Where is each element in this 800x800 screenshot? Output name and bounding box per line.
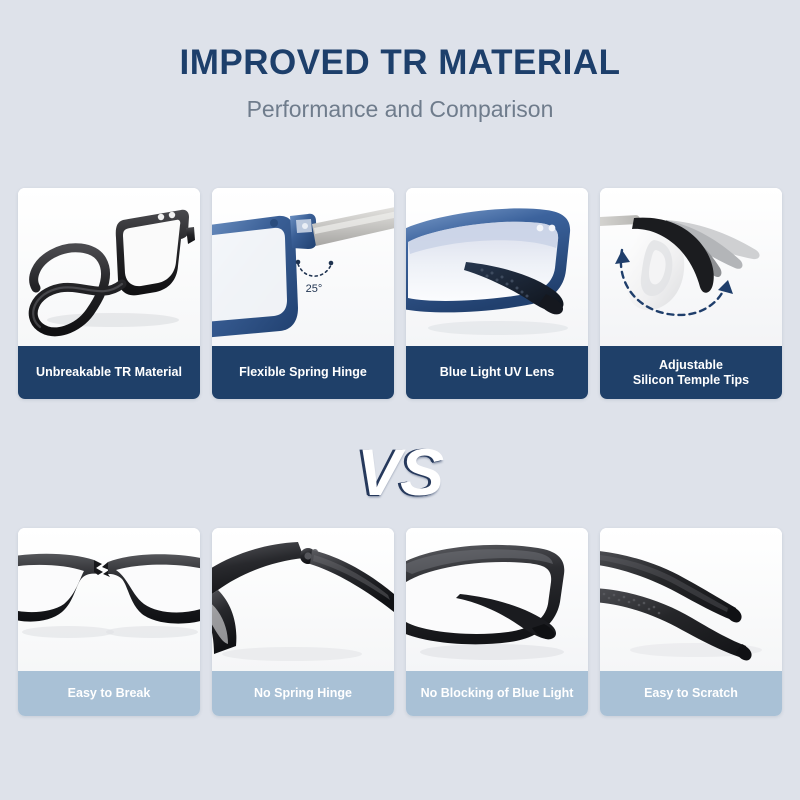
page-title: IMPROVED TR MATERIAL	[0, 44, 800, 83]
cons-row: Easy to Break	[18, 528, 782, 716]
blue-frame-spring-hinge-icon: 25°	[212, 188, 394, 346]
temple-tip-adjust-image	[600, 188, 782, 346]
twisted-black-eyeglass-frame-icon	[18, 188, 200, 346]
pro-card-label-text: Adjustable Silicon Temple Tips	[633, 358, 749, 388]
page-subtitle: Performance and Comparison	[0, 97, 800, 122]
temple-arms-image	[600, 528, 782, 671]
pro-card-label-line2: Silicon Temple Tips	[633, 373, 749, 387]
blue-frame-lens-coating-icon	[406, 188, 588, 346]
con-card-label-text: No Blocking of Blue Light	[421, 686, 574, 701]
con-card-label: Easy to Scratch	[600, 671, 782, 716]
broken-frame-image	[18, 528, 200, 671]
con-card-label-text: Easy to Break	[68, 686, 151, 701]
rigid-hinge-image	[212, 528, 394, 671]
header: IMPROVED TR MATERIAL Performance and Com…	[0, 0, 800, 122]
pro-card-label-line1: Adjustable	[659, 358, 723, 372]
pro-card-label-text: Flexible Spring Hinge	[239, 365, 367, 380]
twisted-frame-image	[18, 188, 200, 346]
black-frame-rigid-hinge-icon	[212, 528, 394, 671]
pros-row: Unbreakable TR Material	[18, 188, 782, 399]
con-card-easy-to-scratch[interactable]: Easy to Scratch	[600, 528, 782, 716]
hinge-angle-annotation: 25°	[306, 283, 323, 295]
con-card-label: No Spring Hinge	[212, 671, 394, 716]
con-card-easy-to-break[interactable]: Easy to Break	[18, 528, 200, 716]
con-card-no-spring-hinge[interactable]: No Spring Hinge	[212, 528, 394, 716]
con-card-label: No Blocking of Blue Light	[406, 671, 588, 716]
plain-black-frame-image	[406, 528, 588, 671]
matte-black-frame-clear-lens-icon	[406, 528, 588, 671]
pro-card-label: Blue Light UV Lens	[406, 346, 588, 399]
pro-card-adjustable-silicon-temple-tips[interactable]: Adjustable Silicon Temple Tips	[600, 188, 782, 399]
con-card-label-text: No Spring Hinge	[254, 686, 352, 701]
pro-card-label: Unbreakable TR Material	[18, 346, 200, 399]
con-card-label-text: Easy to Scratch	[644, 686, 738, 701]
infographic-page: IMPROVED TR MATERIAL Performance and Com…	[0, 0, 800, 800]
pro-card-label-text: Unbreakable TR Material	[36, 365, 182, 380]
pro-card-flexible-spring-hinge[interactable]: 25° Flexible Spring Hinge	[212, 188, 394, 399]
pro-card-unbreakable-tr-material[interactable]: Unbreakable TR Material	[18, 188, 200, 399]
pro-card-label: Adjustable Silicon Temple Tips	[600, 346, 782, 399]
con-card-label: Easy to Break	[18, 671, 200, 716]
ear-model-adjustable-temple-tip-icon	[600, 188, 782, 346]
spring-hinge-image: 25°	[212, 188, 394, 346]
two-black-temple-arms-icon	[600, 528, 782, 671]
blue-light-lens-image	[406, 188, 588, 346]
pro-card-blue-light-uv-lens[interactable]: Blue Light UV Lens	[406, 188, 588, 399]
pro-card-label-text: Blue Light UV Lens	[440, 365, 555, 380]
pro-card-label: Flexible Spring Hinge	[212, 346, 394, 399]
broken-black-frame-icon	[18, 528, 200, 671]
vs-divider: VS	[0, 424, 800, 520]
con-card-no-blocking-blue-light[interactable]: No Blocking of Blue Light	[406, 528, 588, 716]
vs-label: VS	[357, 439, 443, 505]
